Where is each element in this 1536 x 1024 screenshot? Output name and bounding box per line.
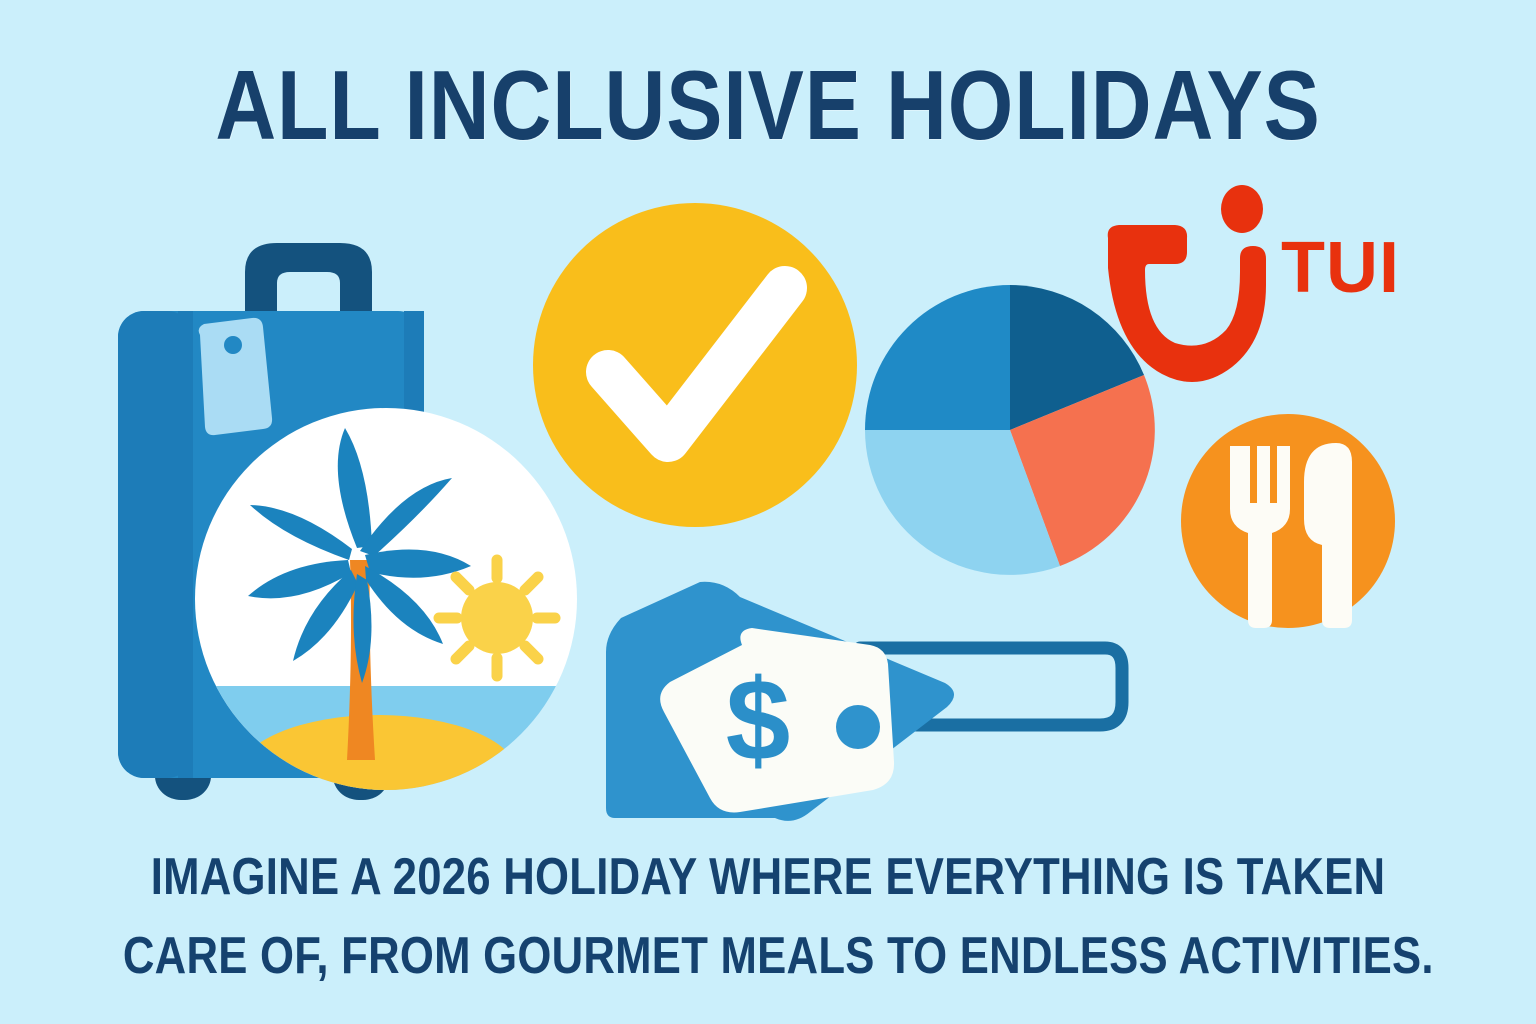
suitcase-panel-edge [178,311,193,778]
luggage-tag [199,318,272,435]
subtitle-line-1: IMAGINE A 2026 HOLIDAY WHERE EVERYTHING … [123,838,1413,917]
subtitle-line-2: CARE OF, FROM GOURMET MEALS TO ENDLESS A… [123,917,1413,996]
tui-wordmark: TUI [1281,232,1400,304]
luggage-tag-hole [224,336,242,354]
tui-dot [1221,185,1263,233]
price-tag-icon: $ [606,582,1122,821]
pie-slice-transfers [865,285,1010,430]
page-subtitle: IMAGINE A 2026 HOLIDAY WHERE EVERYTHING … [123,838,1413,996]
island-sun [439,560,555,676]
pie-chart-icon [865,285,1155,575]
price-tag-hole [836,705,880,749]
poster-canvas: ALL INCLUSIVE HOLIDAYS [0,0,1536,1024]
price-tag-symbol: $ [726,655,791,785]
fork-knife-circle-icon [1181,414,1395,628]
check-circle-icon [533,203,857,527]
check-circle-bg [533,203,857,527]
